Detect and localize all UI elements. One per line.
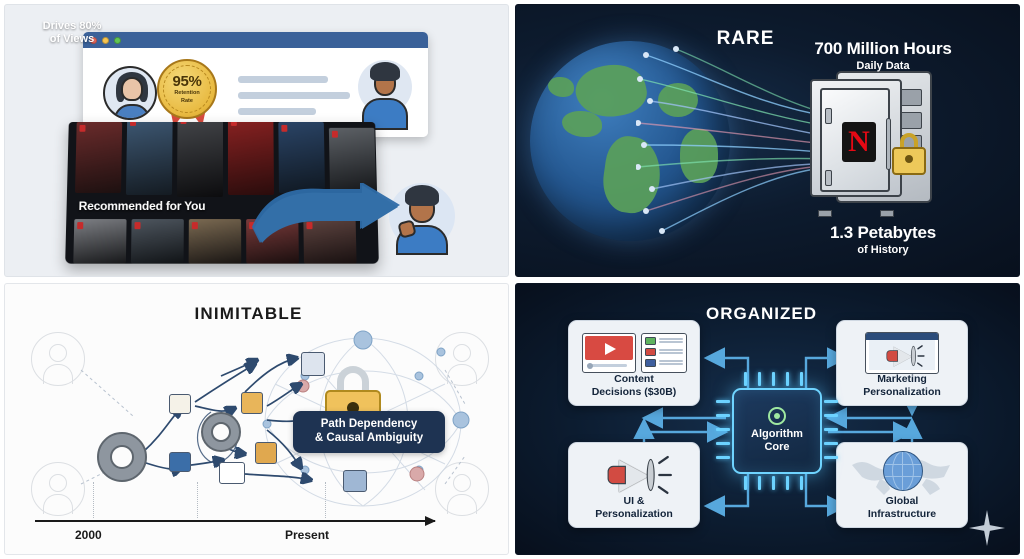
avatar-female-icon (103, 66, 157, 120)
card-content-decisions[interactable]: Content Decisions ($30B) (568, 320, 700, 406)
server-node-icon (301, 352, 325, 376)
stat-daily-data: 700 Million Hours Daily Data (778, 39, 988, 72)
panel-valuable: 95% Retention Rate (4, 4, 509, 277)
card-label-line2: Infrastructure (868, 508, 936, 520)
sparkle-icon (969, 510, 1005, 546)
timeline-end-label: Present (285, 528, 329, 542)
network-node-icon (255, 442, 277, 464)
chip-node-icon (343, 470, 367, 492)
video-player-icon (582, 333, 636, 373)
badge-label-line1: Retention (174, 91, 199, 97)
movie-poster (75, 122, 122, 193)
browser-titlebar (83, 32, 428, 48)
card-label-line2: Personalization (863, 386, 941, 398)
stat-history-size-value: 1.3 Petabytes (778, 223, 988, 243)
stat-history-size: 1.3 Petabytes of History (778, 223, 988, 256)
browser-window-icon (865, 332, 939, 374)
stat-daily-data-label: Daily Data (778, 60, 988, 72)
timeline-start-label: 2000 (75, 528, 102, 542)
arrow-label: Drives 80% of Views (29, 20, 115, 45)
core-label-line2: Core (764, 441, 789, 453)
megaphone-icon (608, 457, 661, 492)
path-label-line2: & Causal Ambiguity (315, 432, 423, 444)
table-node-icon (219, 462, 245, 484)
path-dependency-label: Path Dependency & Causal Ambiguity (293, 411, 445, 453)
panel-organized: ORGANIZED (515, 283, 1020, 556)
path-label-line1: Path Dependency (321, 418, 418, 430)
movie-poster (131, 219, 184, 264)
data-node-icon (169, 452, 191, 472)
data-vault-icon: N (808, 71, 936, 211)
movie-poster (189, 219, 242, 264)
panel-rare: RARE (515, 4, 1020, 277)
panel-inimitable: INIMITABLE (4, 283, 509, 556)
gear-icon (97, 432, 147, 482)
global-infrastructure-art (837, 449, 967, 501)
algorithm-core-chip[interactable]: Algorithm Core (732, 388, 822, 474)
badge-label-line2: Rate (181, 99, 193, 105)
card-ui-personalization[interactable]: UI & Personalization (568, 442, 700, 528)
placeholder-text-line (238, 108, 316, 115)
card-label-line2: Decisions ($30B) (592, 386, 677, 398)
gear-icon (768, 407, 786, 425)
algorithm-core-label: Algorithm Core (751, 428, 803, 454)
drives-views-arrow-icon (250, 183, 402, 247)
movie-poster (73, 219, 126, 264)
arrow-label-line1: Drives 80% (29, 20, 115, 33)
ui-personalization-art (569, 449, 699, 501)
movie-poster (329, 128, 376, 191)
globe-icon (883, 451, 923, 491)
puzzle-node-icon (241, 392, 263, 414)
placeholder-text-line (238, 76, 328, 83)
padlock-icon (892, 133, 926, 175)
card-global-infrastructure[interactable]: Global Infrastructure (836, 442, 968, 528)
poster-row-top (67, 122, 377, 189)
content-decisions-art (569, 327, 699, 379)
maximize-icon[interactable] (114, 37, 121, 44)
decision-list-icon (641, 333, 687, 373)
browser-node-icon (169, 394, 191, 414)
core-label-line1: Algorithm (751, 428, 803, 440)
card-marketing-personalization[interactable]: Marketing Personalization (836, 320, 968, 406)
stat-history-size-label: of History (778, 244, 988, 256)
arrow-label-line2: of Views (29, 33, 115, 46)
timeline-tick (93, 482, 94, 518)
timeline-tick (325, 482, 326, 518)
badge-percent: 95% (172, 74, 201, 89)
retention-badge: 95% Retention Rate (157, 59, 217, 119)
placeholder-text-line (238, 92, 350, 99)
gear-icon (201, 412, 241, 452)
infographic-grid: 95% Retention Rate (0, 0, 1024, 559)
netflix-n-glyph: N (848, 127, 870, 157)
netflix-logo-icon: N (842, 122, 876, 162)
avatar-male-icon (356, 58, 414, 130)
movie-poster (177, 122, 223, 197)
timeline-tick (197, 482, 198, 518)
stat-daily-data-value: 700 Million Hours (778, 39, 988, 59)
carousel-title: Recommended for You (78, 199, 205, 213)
marketing-art (837, 327, 967, 379)
timeline-axis (35, 520, 435, 522)
card-label-line2: Personalization (595, 508, 673, 520)
movie-poster (126, 122, 173, 195)
